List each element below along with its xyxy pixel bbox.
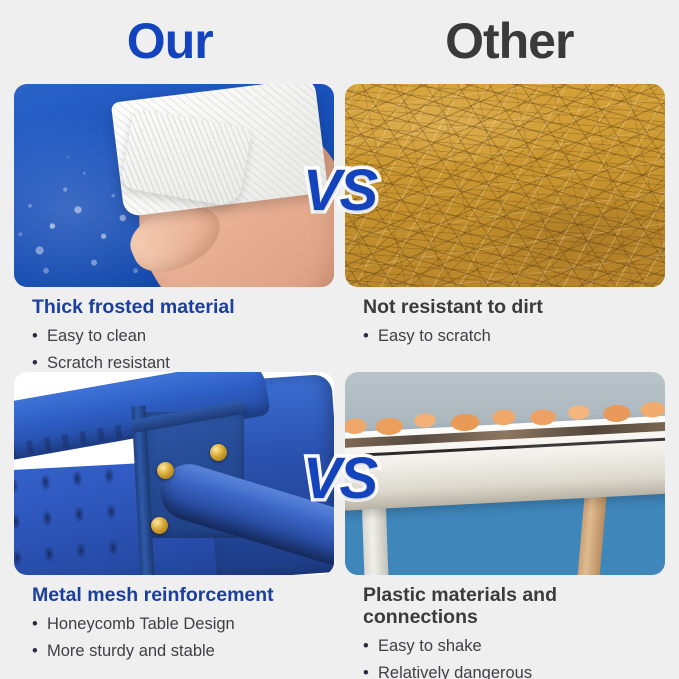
blue-frosted-tabletop-being-wiped-photo — [14, 84, 334, 287]
comparison-row-1: VS Thick frosted material Easy to clean … — [0, 84, 679, 376]
caption-title: Plastic materials and connections — [363, 584, 665, 628]
wooden-leg-shape — [577, 491, 607, 575]
list-item: Honeycomb Table Design — [32, 611, 334, 638]
row-1-images: VS — [0, 84, 679, 287]
list-item: Easy to shake — [363, 633, 665, 660]
heading-other: Other — [445, 16, 573, 66]
row-2-captions: Metal mesh reinforcement Honeycomb Table… — [0, 584, 679, 679]
heading-cell-ours: Our — [0, 8, 340, 74]
row-2-ours-cell — [14, 372, 334, 575]
scratch-marks-texture — [345, 84, 665, 287]
row-2-ours-caption: Metal mesh reinforcement Honeycomb Table… — [14, 584, 334, 679]
list-item: Easy to clean — [32, 323, 334, 350]
brass-screw-icon — [210, 444, 227, 461]
list-item: Easy to scratch — [363, 323, 665, 350]
row-2-other-cell — [345, 372, 665, 575]
caption-title: Metal mesh reinforcement — [32, 584, 334, 606]
cracked-plastic-table-edge-photo — [345, 372, 665, 575]
comparison-infographic: Our Other VS — [0, 0, 679, 679]
caption-bullet-list: Honeycomb Table Design More sturdy and s… — [32, 611, 334, 664]
list-item: More sturdy and stable — [32, 638, 334, 665]
brass-screw-icon — [157, 462, 174, 479]
heading-ours: Our — [127, 16, 213, 66]
caption-title: Thick frosted material — [32, 296, 334, 318]
heading-cell-other: Other — [340, 8, 679, 74]
row-1-other-caption: Not resistant to dirt Easy to scratch — [345, 296, 665, 376]
caption-title: Not resistant to dirt — [363, 296, 665, 318]
caption-bullet-list: Easy to shake Relatively dangerous — [363, 633, 665, 679]
row-2-images: VS — [0, 372, 679, 575]
row-1-captions: Thick frosted material Easy to clean Scr… — [0, 296, 679, 376]
row-1-ours-cell — [14, 84, 334, 287]
caption-bullet-list: Easy to scratch — [363, 323, 665, 350]
scratched-wooden-tabletop-photo — [345, 84, 665, 287]
row-2-other-caption: Plastic materials and connections Easy t… — [345, 584, 665, 679]
blue-table-metal-frame-honeycomb-underside-photo — [14, 372, 334, 575]
column-headings: Our Other — [0, 8, 679, 74]
comparison-row-2: VS Metal mesh reinforcement Honeycomb Ta… — [0, 372, 679, 679]
list-item: Relatively dangerous — [363, 660, 665, 679]
brass-screw-icon — [151, 517, 168, 534]
row-1-ours-caption: Thick frosted material Easy to clean Scr… — [14, 296, 334, 376]
caption-bullet-list: Easy to clean Scratch resistant — [32, 323, 334, 376]
row-1-other-cell — [345, 84, 665, 287]
